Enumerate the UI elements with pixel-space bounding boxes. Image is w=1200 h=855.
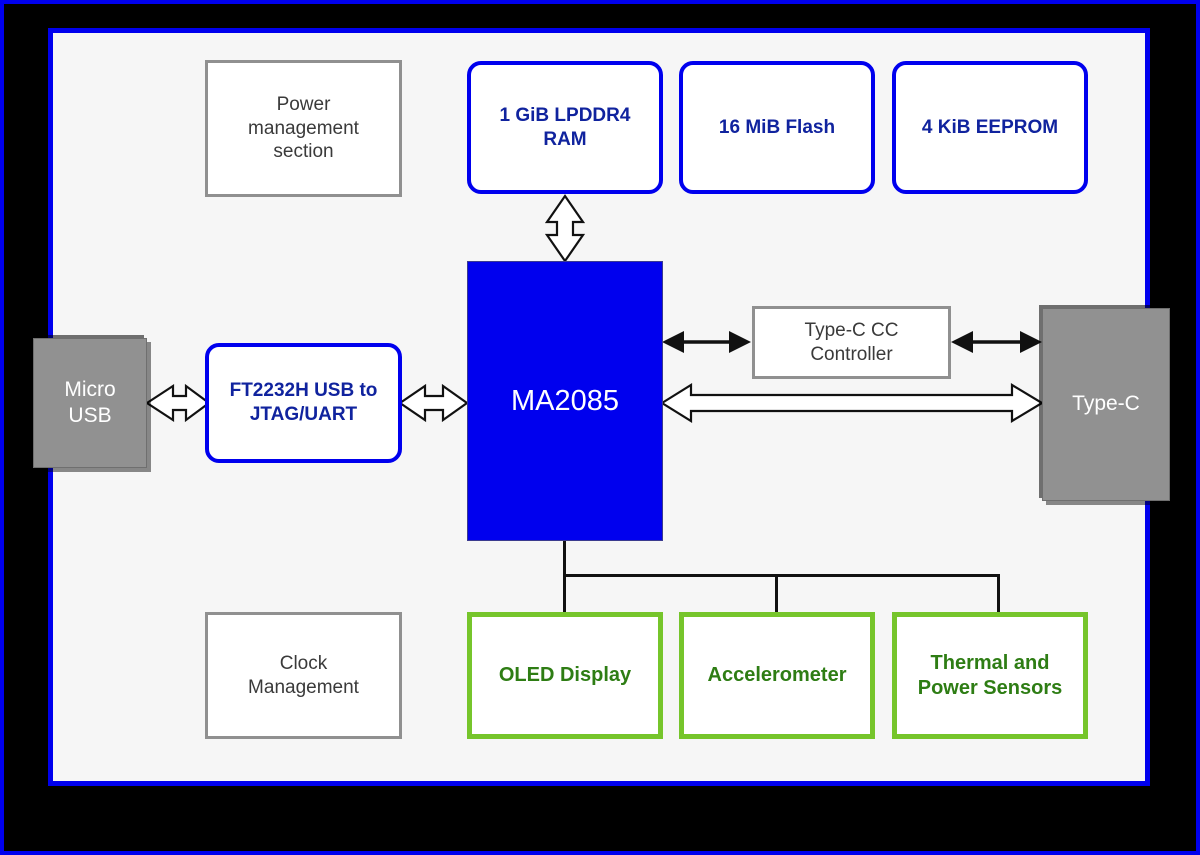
block-accelerometer-label: Accelerometer <box>708 663 847 688</box>
block-ft2232h-label: FT2232H USB to JTAG/UART <box>230 379 378 427</box>
block-type-c-label: Type-C <box>1072 391 1140 417</box>
block-ft2232h[interactable]: FT2232H USB to JTAG/UART <box>205 343 402 463</box>
block-eeprom-label: 4 KiB EEPROM <box>922 116 1058 140</box>
block-flash-label: 16 MiB Flash <box>719 116 835 140</box>
block-diagram-canvas: Power management section 1 GiB LPDDR4 RA… <box>0 0 1200 855</box>
bus-line-horizontal <box>563 574 1000 577</box>
block-accelerometer[interactable]: Accelerometer <box>679 612 875 739</box>
bus-line-soc-down <box>563 541 566 613</box>
block-type-c[interactable]: Type-C <box>1042 308 1170 501</box>
block-thermal-power-sensors[interactable]: Thermal and Power Sensors <box>892 612 1088 739</box>
block-typec-cc-controller[interactable]: Type-C CC Controller <box>752 306 951 379</box>
block-clock-management[interactable]: Clock Management <box>205 612 402 739</box>
block-micro-usb[interactable]: Micro USB <box>33 338 147 468</box>
block-eeprom[interactable]: 4 KiB EEPROM <box>892 61 1088 194</box>
block-lpddr4-ram[interactable]: 1 GiB LPDDR4 RAM <box>467 61 663 194</box>
block-flash[interactable]: 16 MiB Flash <box>679 61 875 194</box>
block-typec-cc-controller-label: Type-C CC Controller <box>805 319 899 367</box>
block-power-management[interactable]: Power management section <box>205 60 402 197</box>
block-lpddr4-ram-label: 1 GiB LPDDR4 RAM <box>500 104 631 152</box>
block-power-management-label: Power management section <box>248 93 359 164</box>
block-ma2085-soc-label: MA2085 <box>511 383 619 419</box>
block-oled-display-label: OLED Display <box>499 663 631 688</box>
block-thermal-power-sensors-label: Thermal and Power Sensors <box>918 651 1063 701</box>
block-micro-usb-label: Micro USB <box>64 377 115 430</box>
block-oled-display[interactable]: OLED Display <box>467 612 663 739</box>
bus-drop-thermal <box>997 574 1000 613</box>
block-clock-management-label: Clock Management <box>248 652 359 700</box>
block-ma2085-soc[interactable]: MA2085 <box>467 261 663 541</box>
bus-drop-accelerometer <box>775 574 778 613</box>
